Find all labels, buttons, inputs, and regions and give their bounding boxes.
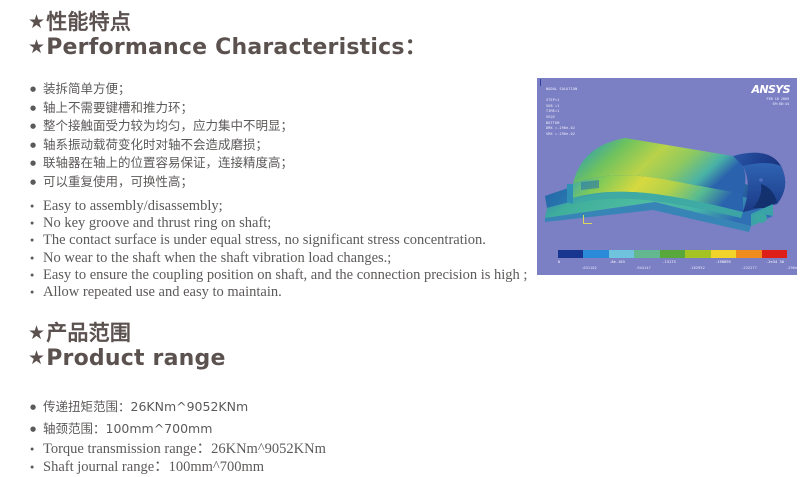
performance-bullets-en: Easy to assembly/disassembly; No key gro… [30, 198, 527, 301]
document-page: ★性能特点 ★Performance Characteristics： 装拆简单… [0, 0, 811, 477]
performance-heading-cn: ★性能特点 [28, 11, 427, 35]
list-item: The contact surface is under equal stres… [30, 232, 527, 249]
performance-bullets-cn: 装拆简单方便； 轴上不需要键槽和推力环； 整个接触面受力较为均匀，应力集中不明显… [30, 80, 293, 192]
model-hub-bolt [759, 178, 763, 182]
list-item: Allow repeated use and easy to maintain. [30, 284, 527, 301]
product-range-heading-en-text: Product range [46, 346, 225, 371]
list-item: 传递扭矩范围：26KNm^9052KNm [30, 396, 248, 418]
product-range-heading-cn: ★产品范围 [28, 322, 226, 346]
performance-heading-block: ★性能特点 ★Performance Characteristics： [28, 11, 427, 60]
coupling-3d-model [537, 122, 797, 237]
product-range-heading-block: ★产品范围 ★Product range [28, 322, 226, 371]
model-base-boss [755, 213, 767, 223]
corner-tick-icon [540, 79, 541, 86]
list-item: Easy to ensure the coupling position on … [30, 267, 527, 284]
star-icon: ★ [28, 37, 45, 58]
colorbar-label: .198895 [715, 260, 731, 264]
list-item: Easy to assembly/disassembly; [30, 198, 527, 215]
star-icon: ★ [28, 12, 45, 33]
star-icon: ★ [28, 323, 45, 344]
colorbar-label: .232277 [741, 266, 757, 270]
list-item: 轴颈范围：100mm^700mm [30, 418, 248, 440]
list-item: 装拆简单方便； [30, 80, 293, 99]
product-range-bullets-cn: 传递扭矩范围：26KNm^9052KNm 轴颈范围：100mm^700mm [30, 396, 248, 440]
colorbar-label: .944147 [635, 266, 651, 270]
ansys-timestamp: FEB 18 2009 09:08:44 [767, 97, 789, 107]
product-range-heading-en: ★Product range [28, 347, 226, 372]
list-item: 联轴器在轴上的位置容易保证，连接精度高； [30, 154, 293, 173]
colorbar-label: .2e34 38 [766, 260, 784, 264]
colorbar-label: .296e-02 [786, 266, 797, 270]
colorbar-label: .13173 [662, 260, 676, 264]
list-item: 轴上不需要键槽和推力环； [30, 99, 293, 118]
list-item: 整个接触面受力较为均匀，应力集中不明显； [30, 117, 293, 136]
colorbar-label: .162952 [689, 266, 705, 270]
performance-heading-en-text: Performance Characteristics： [46, 35, 427, 60]
list-item: Shaft journal range：100mm^700mm [30, 458, 326, 476]
star-icon: ★ [28, 348, 45, 369]
list-item: No key groove and thrust ring on shaft; [30, 215, 527, 232]
list-item: 可以重复使用，可换性高； [30, 173, 293, 192]
performance-heading-cn-text: 性能特点 [46, 10, 131, 34]
product-range-heading-cn-text: 产品范围 [46, 321, 131, 345]
stress-colorbar [558, 250, 787, 258]
ansys-simulation-image: NODAL SOLUTION STEP=1 SUB =1 TIME=1 SEQV… [537, 78, 797, 275]
product-range-bullets-en: Torque transmission range：26KNm^9052KNm … [30, 440, 326, 476]
model-left-notch [567, 184, 573, 204]
ansys-logo: ANSYS [751, 84, 790, 95]
list-item: No wear to the shaft when the shaft vibr… [30, 250, 527, 267]
colorbar-label: .8e-163 [609, 260, 625, 264]
list-item: Torque transmission range：26KNm^9052KNm [30, 440, 326, 458]
coordinate-triad-icon [582, 215, 596, 227]
list-item: 轴系振动载荷变化时对轴不会造成磨损； [30, 136, 293, 155]
colorbar-label: 0 [558, 260, 560, 264]
colorbar-label: .031182 [581, 266, 597, 270]
performance-heading-en: ★Performance Characteristics： [28, 36, 427, 61]
